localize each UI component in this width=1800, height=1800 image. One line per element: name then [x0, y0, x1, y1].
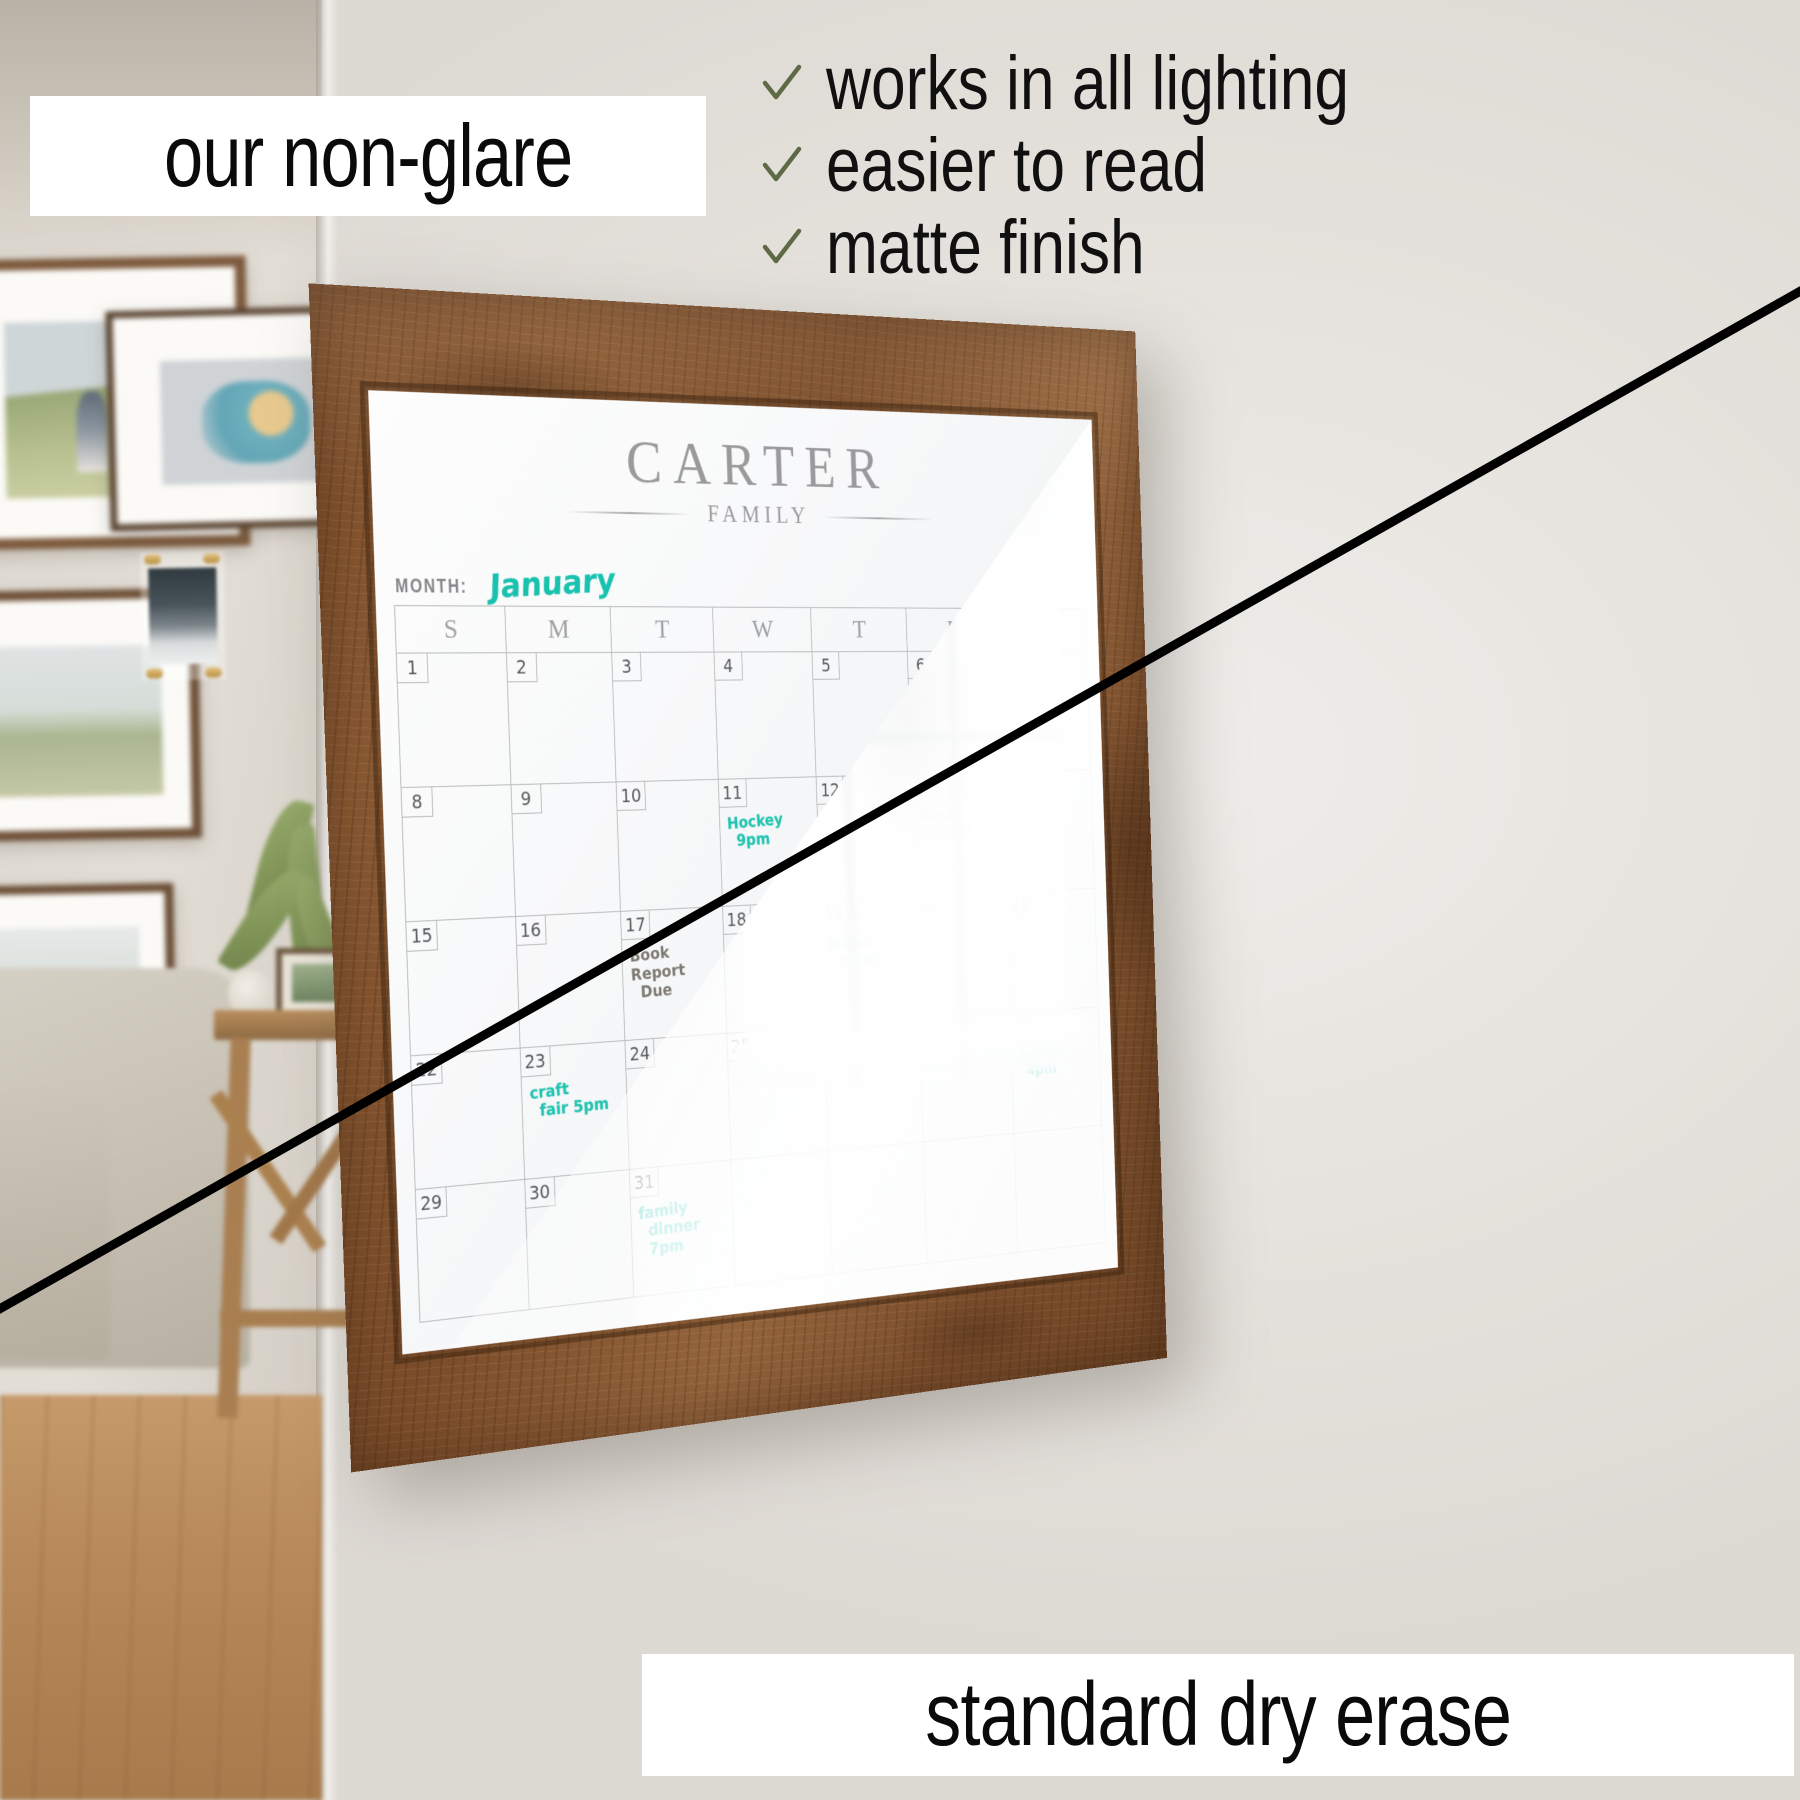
day-number: 19 — [821, 901, 849, 930]
calendar-cell[interactable]: 13Movie Night!! — [911, 771, 1007, 896]
wood-floor — [0, 1395, 322, 1800]
calendar-cell[interactable]: 2 — [506, 652, 616, 784]
acrylic-clip-frame-wedding — [140, 551, 226, 680]
weekday-header-2: T — [610, 606, 714, 652]
day-number: 30 — [525, 1177, 556, 1209]
day-number: 14 — [1003, 772, 1029, 799]
day-number: 24 — [625, 1039, 654, 1070]
calendar-cell[interactable] — [1014, 1125, 1106, 1253]
calendar-cell[interactable]: 20 — [915, 892, 1010, 1019]
calendar-cell[interactable]: 14 — [1002, 769, 1094, 892]
feature-bullet-list: works in all lightingeasier to readmatte… — [760, 42, 1770, 288]
calendar-cell[interactable]: 7 — [999, 650, 1091, 771]
day-number: 11 — [718, 779, 747, 808]
month-label: MONTH: — [395, 575, 468, 598]
calendar-cell[interactable]: 1 — [396, 652, 510, 787]
calendar-cell[interactable]: 3 — [611, 652, 717, 782]
handwritten-note: Book ReportDue — [629, 938, 724, 1004]
calendar-cell[interactable]: 31familydinner 7pm — [629, 1160, 735, 1298]
calendar-cell[interactable]: 28Soccer4pm — [1010, 1006, 1102, 1133]
calendar-grid: SMTWTFS 1234567891011Hockey9pm1213Movie … — [394, 605, 1106, 1323]
feature-bullet-2: matte finish — [760, 206, 1770, 288]
day-number: 2 — [506, 653, 537, 682]
calendar-cell[interactable] — [730, 1150, 832, 1286]
day-number: 6 — [908, 652, 935, 679]
day-number: 28 — [1011, 1012, 1037, 1040]
day-number: 8 — [401, 787, 433, 817]
framed-calendar-board: CARTER FAMILY MONTH: January SMTWTFS 123… — [330, 285, 1350, 1475]
calendar-cell[interactable] — [923, 1133, 1018, 1264]
calendar-cell[interactable]: 19MomsB-day — [820, 897, 919, 1026]
day-number: 10 — [617, 782, 647, 811]
calendar-cell[interactable]: 22 — [410, 1048, 524, 1190]
feature-bullet-text: works in all lighting — [826, 40, 1349, 127]
day-number: 22 — [411, 1054, 443, 1086]
weekday-header-4: T — [810, 607, 906, 651]
day-number: 27 — [919, 1018, 946, 1047]
calendar-cell[interactable]: 4 — [713, 651, 816, 779]
calendar-cell[interactable]: 24 — [625, 1033, 731, 1169]
weekday-header-3: W — [712, 607, 812, 652]
day-number: 3 — [612, 653, 642, 682]
weekday-header-5: F — [905, 608, 998, 651]
weekday-header-0: S — [394, 605, 505, 653]
day-number: 1 — [397, 654, 429, 684]
day-number: 21 — [1007, 892, 1033, 920]
weekday-header-6: S — [997, 608, 1087, 651]
standard-dry-erase-label: standard dry erase — [642, 1654, 1794, 1776]
family-name: CARTER — [369, 422, 1094, 504]
calendar-cell[interactable]: 26 — [824, 1019, 923, 1150]
day-number: 18 — [723, 906, 751, 935]
calendar-cell[interactable]: 25 — [726, 1026, 828, 1160]
day-number: 9 — [511, 784, 542, 814]
calendar-cell[interactable]: 8 — [401, 784, 515, 921]
month-row: MONTH: January — [395, 567, 617, 599]
calendar-cell[interactable]: 6 — [907, 651, 1003, 774]
day-number: 31 — [630, 1167, 659, 1198]
calendar-cell[interactable]: 17Book ReportDue — [620, 906, 726, 1040]
day-number: 12 — [817, 777, 845, 805]
check-icon — [760, 225, 804, 269]
non-glare-label-text: our non-glare — [164, 105, 572, 207]
calendar-cell[interactable]: 21 — [1006, 888, 1098, 1013]
check-icon — [760, 61, 804, 105]
calendar-cell[interactable]: 29 — [415, 1179, 529, 1323]
calendar-cell[interactable] — [828, 1141, 926, 1274]
handwritten-note: familydinner 7pm — [638, 1192, 732, 1262]
day-number: 13 — [912, 774, 939, 802]
calendar-cell[interactable]: 30 — [524, 1169, 634, 1310]
calendar-cell[interactable]: 23craftfair 5pm — [519, 1040, 629, 1179]
calendar-cell[interactable]: 5 — [812, 651, 911, 776]
calendar-cell[interactable]: 18 — [722, 901, 824, 1033]
day-number: 7 — [999, 651, 1025, 678]
day-number: 29 — [416, 1187, 448, 1219]
calendar-cell[interactable]: 16 — [515, 911, 625, 1048]
handwritten-note: craftfair 5pm — [528, 1073, 625, 1124]
day-number: 25 — [727, 1032, 755, 1062]
day-number: 23 — [520, 1046, 551, 1077]
day-number: 26 — [825, 1025, 852, 1054]
calendar-cell[interactable]: 10 — [616, 779, 722, 911]
check-icon — [760, 143, 804, 187]
day-number: 16 — [516, 916, 547, 946]
sofa-arm — [0, 1090, 110, 1360]
month-value-handwritten: January — [489, 566, 615, 602]
weekday-header-1: M — [504, 606, 611, 653]
feature-bullet-1: easier to read — [760, 124, 1770, 206]
feature-bullet-0: works in all lighting — [760, 42, 1770, 124]
rule-left — [568, 511, 691, 516]
handwritten-note: Soccer4pm — [1018, 1036, 1098, 1082]
day-number: 15 — [406, 921, 438, 952]
calendar-cell[interactable]: 12 — [816, 774, 915, 901]
day-number: 20 — [916, 896, 943, 924]
family-subtitle: FAMILY — [702, 501, 810, 529]
calendar-cell[interactable]: 11Hockey9pm — [718, 776, 820, 906]
feature-bullet-text: matte finish — [826, 204, 1145, 291]
whiteboard-surface: CARTER FAMILY MONTH: January SMTWTFS 123… — [368, 390, 1118, 1354]
calendar-cell[interactable]: 27 — [919, 1013, 1014, 1142]
board-header: CARTER FAMILY — [369, 422, 1095, 535]
handwritten-note: Movie Night!! — [919, 802, 1003, 845]
handwritten-note: MomsB-day — [828, 927, 915, 973]
calendar-body: 1234567891011Hockey9pm1213Movie Night!!1… — [396, 650, 1106, 1322]
feature-bullet-text: easier to read — [826, 122, 1207, 209]
rule-right — [821, 516, 934, 520]
day-number: 17 — [621, 910, 651, 940]
standard-dry-erase-label-text: standard dry erase — [925, 1664, 1511, 1767]
non-glare-label: our non-glare — [30, 96, 706, 216]
day-number: 4 — [714, 652, 743, 680]
day-number: 5 — [813, 652, 841, 680]
weekday-header-row: SMTWTFS — [394, 605, 1087, 653]
calendar-cell[interactable]: 15 — [405, 916, 519, 1055]
calendar-cell[interactable]: 9 — [510, 782, 620, 917]
handwritten-note: Hockey9pm — [726, 808, 816, 853]
